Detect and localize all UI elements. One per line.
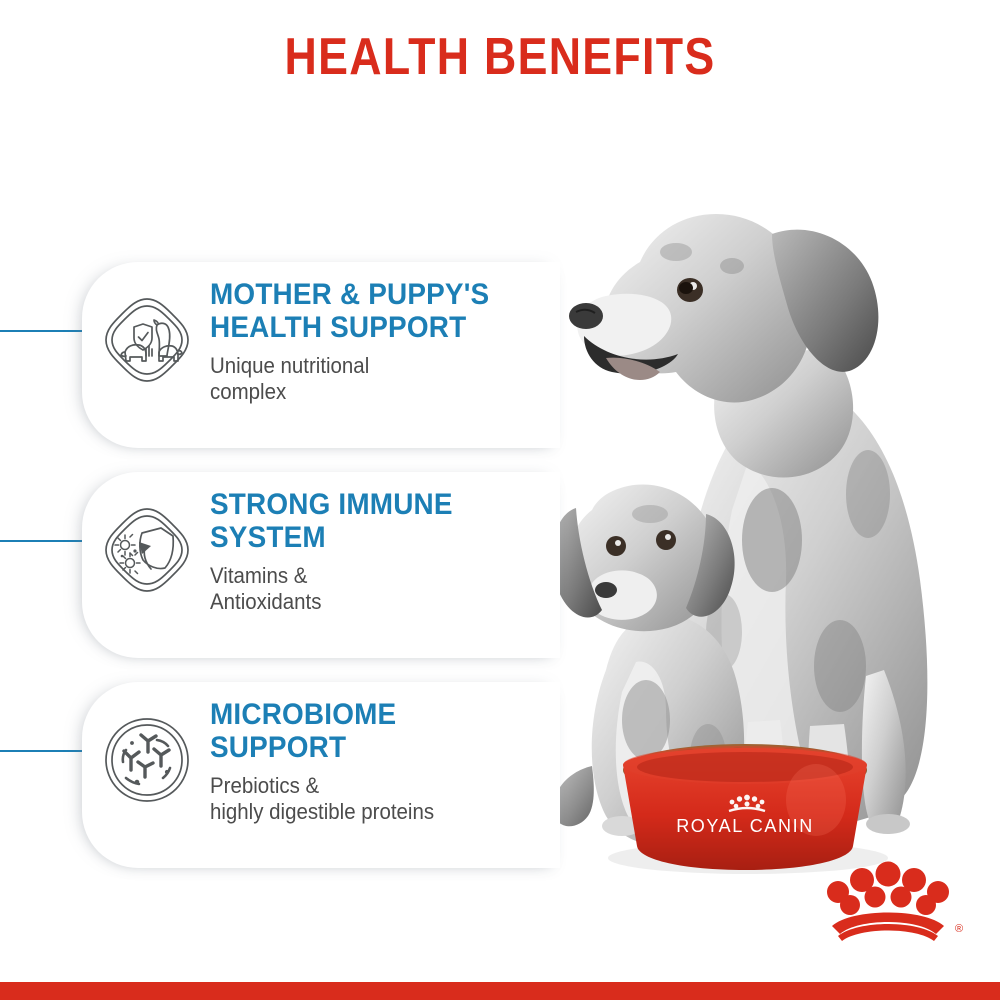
page-title: HEALTH BENEFITS: [70, 26, 930, 88]
benefit-title: STRONG IMMUNE SYSTEM: [210, 488, 526, 554]
benefit-texts: STRONG IMMUNE SYSTEM Vitamins & Antioxid…: [210, 488, 550, 615]
svg-text:ROYAL CANIN: ROYAL CANIN: [676, 816, 814, 836]
mother-puppy-health-icon: [101, 294, 193, 386]
microbiome-bacteria-icon: [101, 714, 193, 806]
registered-mark: ®: [955, 923, 963, 935]
benefit-title: MICROBIOME SUPPORT: [210, 698, 526, 764]
bottom-red-bar: [0, 982, 1000, 1000]
benefit-subtitle: Vitamins & Antioxidants: [210, 563, 526, 615]
benefit-item-microbiome-support[interactable]: MICROBIOME SUPPORT Prebiotics & highly d…: [0, 670, 560, 880]
benefit-subtitle: Prebiotics & highly digestible proteins: [210, 773, 526, 825]
royal-canin-crown-logo: ®: [824, 860, 972, 948]
benefit-item-mother-puppy-health[interactable]: MOTHER & PUPPY'S HEALTH SUPPORT Unique n…: [0, 250, 560, 460]
food-bowl: ROYAL CANIN: [608, 744, 888, 874]
benefit-texts: MOTHER & PUPPY'S HEALTH SUPPORT Unique n…: [210, 278, 550, 405]
benefit-subtitle: Unique nutritional complex: [210, 353, 526, 405]
benefit-texts: MICROBIOME SUPPORT Prebiotics & highly d…: [210, 698, 550, 825]
immune-shield-icon: [101, 504, 193, 596]
benefit-title: MOTHER & PUPPY'S HEALTH SUPPORT: [210, 278, 526, 344]
benefit-item-strong-immune-system[interactable]: STRONG IMMUNE SYSTEM Vitamins & Antioxid…: [0, 460, 560, 670]
benefits-list: MOTHER & PUPPY'S HEALTH SUPPORT Unique n…: [0, 250, 560, 880]
